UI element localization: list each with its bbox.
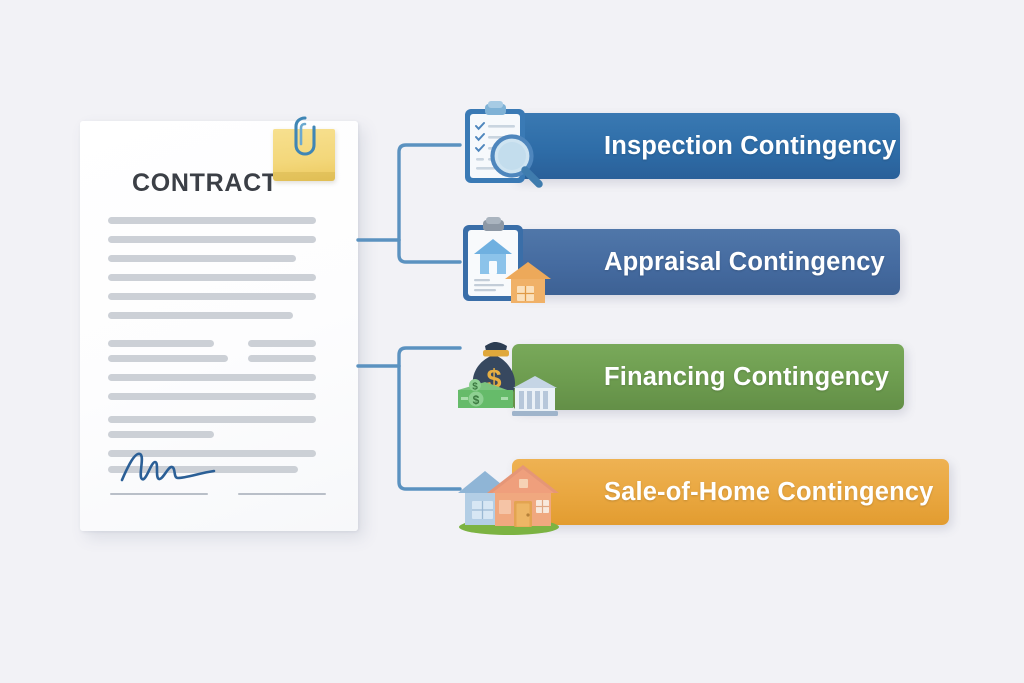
financing-contingency-bar[interactable]: Financing Contingency xyxy=(512,344,904,410)
appraisal-contingency-bar[interactable]: Appraisal Contingency xyxy=(512,229,900,295)
two-houses-icon xyxy=(455,445,567,537)
contingency-row-sale-of-home[interactable]: Sale-of-Home Contingency xyxy=(455,443,955,539)
doc-text-line xyxy=(108,236,316,243)
contingency-row-inspection[interactable]: Inspection Contingency xyxy=(455,97,955,193)
signature xyxy=(118,446,228,488)
clipboard-magnifier-icon xyxy=(455,99,567,191)
doc-text-line xyxy=(108,416,316,423)
svg-text:$: $ xyxy=(473,393,480,407)
financing-contingency-label: Financing Contingency xyxy=(512,363,889,392)
doc-text-line xyxy=(108,293,316,300)
doc-text-line xyxy=(248,340,316,347)
contract-document: CONTRACT xyxy=(80,121,358,531)
signature-icon xyxy=(118,446,228,488)
doc-text-line xyxy=(108,393,316,400)
contract-title: CONTRACT xyxy=(132,169,278,198)
sale-of-home-contingency-label: Sale-of-Home Contingency xyxy=(512,478,933,507)
doc-text-line xyxy=(108,274,316,281)
doc-text-line xyxy=(108,312,293,319)
doc-text-line xyxy=(248,355,316,362)
sale-of-home-contingency-bar[interactable]: Sale-of-Home Contingency xyxy=(512,459,949,525)
connector-branch-3 xyxy=(399,348,460,366)
clipboard-house-icon xyxy=(455,215,567,307)
svg-text:$: $ xyxy=(472,382,478,393)
doc-text-line xyxy=(108,217,316,224)
doc-text-line xyxy=(108,255,296,262)
inspection-contingency-bar[interactable]: Inspection Contingency xyxy=(512,113,900,179)
doc-text-line xyxy=(108,374,316,381)
paperclip-icon xyxy=(292,115,318,161)
inspection-contingency-label: Inspection Contingency xyxy=(512,132,896,161)
connector-branch-4 xyxy=(399,366,460,489)
doc-text-line xyxy=(108,355,228,362)
signature-rule xyxy=(110,493,208,495)
infographic-canvas: CONTRACT xyxy=(0,0,1024,683)
contingency-row-financing[interactable]: Financing Contingency $ $ $ xyxy=(455,328,955,424)
connector-branch-2 xyxy=(399,240,460,262)
appraisal-contingency-label: Appraisal Contingency xyxy=(512,248,885,277)
doc-text-line xyxy=(108,340,214,347)
date-rule xyxy=(238,493,326,495)
connector-branch-1 xyxy=(399,145,460,240)
doc-text-line xyxy=(108,431,214,438)
money-bag-bank-icon: $ $ $ xyxy=(455,330,567,422)
contingency-row-appraisal[interactable]: Appraisal Contingency xyxy=(455,213,955,309)
